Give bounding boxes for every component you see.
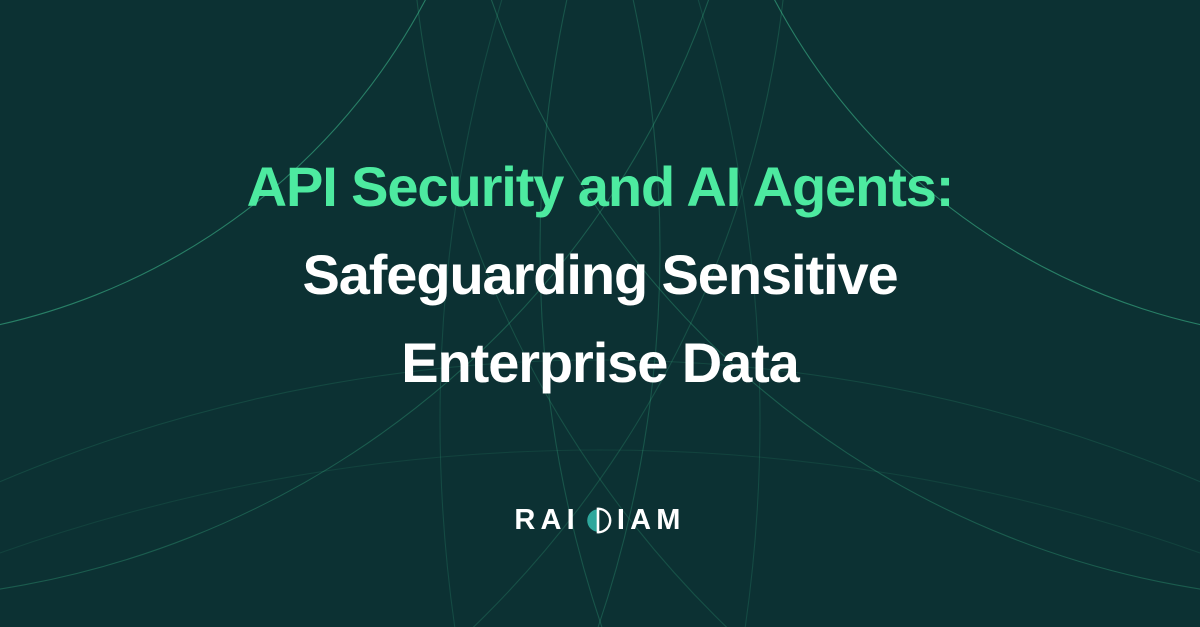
headline-line-1: API Security and AI Agents:: [100, 143, 1100, 231]
card-content: API Security and AI Agents: Safeguarding…: [0, 0, 1200, 627]
headline-line-3: Enterprise Data: [100, 319, 1100, 407]
logo-text-left: RAI: [514, 506, 580, 535]
raidiam-d-mark-icon: [585, 506, 612, 535]
headline-line-2: Safeguarding Sensitive: [100, 231, 1100, 319]
page-title: API Security and AI Agents: Safeguarding…: [100, 0, 1100, 407]
social-card-canvas: API Security and AI Agents: Safeguarding…: [0, 0, 1200, 627]
raidiam-logo: RAI IAM: [0, 498, 1200, 542]
logo-text-right: IAM: [617, 506, 686, 535]
